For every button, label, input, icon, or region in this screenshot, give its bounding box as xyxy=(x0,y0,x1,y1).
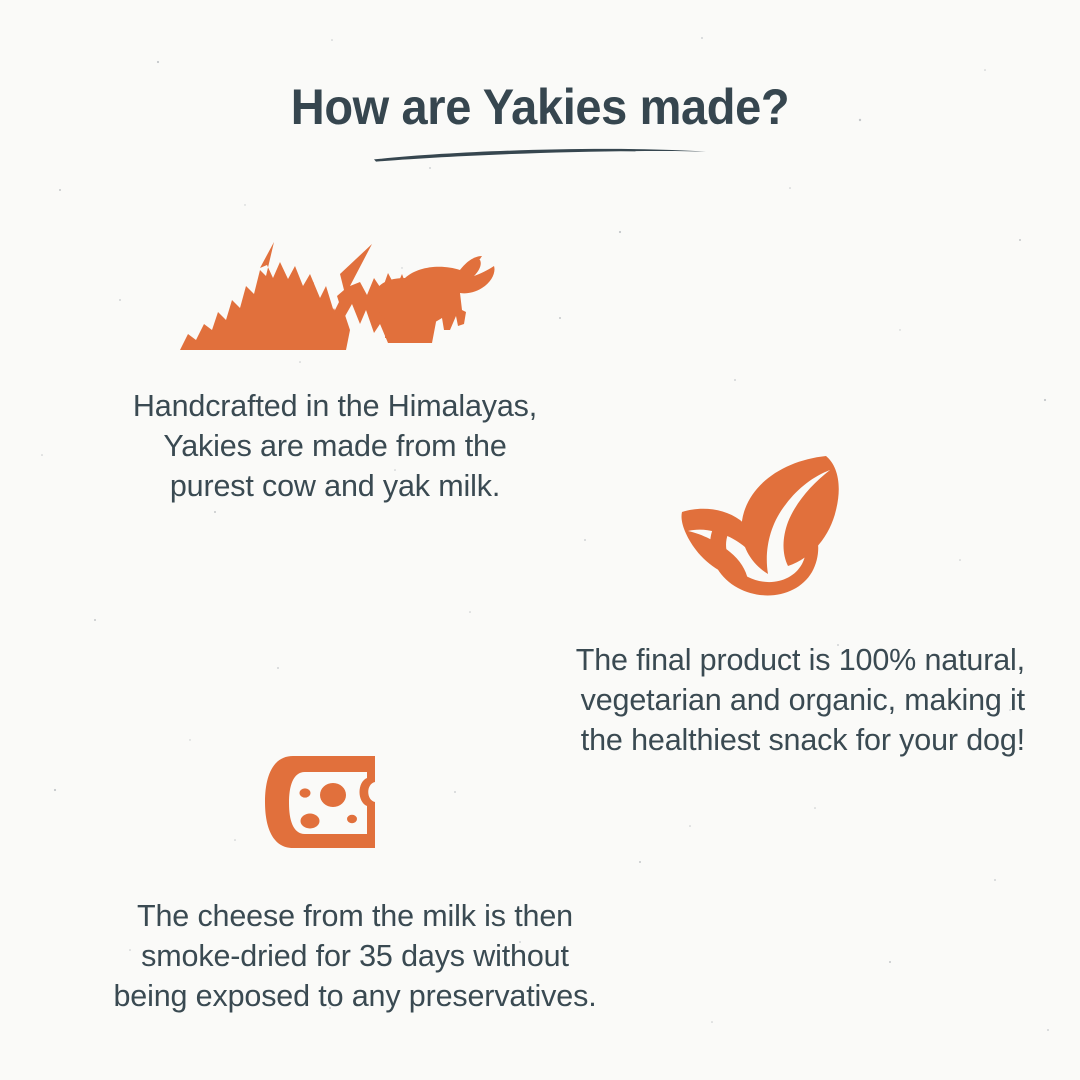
step-leaf-icon-wrap xyxy=(450,450,1025,606)
step-leaf-text: The final product is 100% natural, veget… xyxy=(450,606,1025,760)
page-title: How are Yakies made? xyxy=(32,78,1047,136)
header: How are Yakies made? xyxy=(0,78,1080,164)
mountain-yak-icon xyxy=(174,238,504,354)
step-leaf: The final product is 100% natural, veget… xyxy=(450,450,1025,760)
step-mountain-icon-wrap xyxy=(70,238,600,354)
cheese-wedge-icon xyxy=(263,748,389,858)
leaf-sprout-icon xyxy=(678,450,854,606)
step-cheese: The cheese from the milk is then smoke-d… xyxy=(55,748,655,1016)
swoosh-underline-icon xyxy=(372,142,708,164)
step-cheese-text: The cheese from the milk is then smoke-d… xyxy=(55,858,655,1016)
step-cheese-icon-wrap xyxy=(55,748,655,858)
infographic-page: How are Yakies made? xyxy=(0,0,1080,1080)
